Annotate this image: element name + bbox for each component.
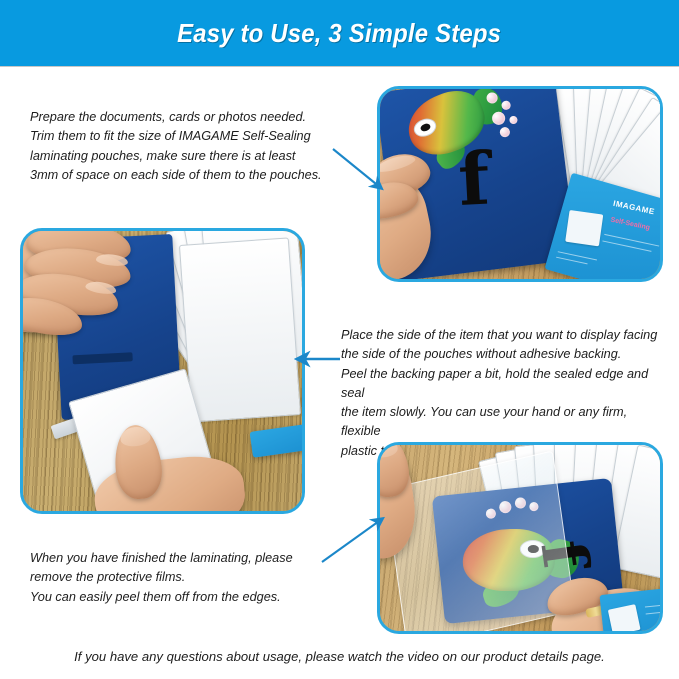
infographic-page: Easy to Use, 3 Simple Steps Prepare the … — [0, 0, 679, 679]
arrow-step-3 — [322, 519, 382, 562]
arrow-layer — [0, 0, 679, 679]
arrow-step-1 — [333, 149, 381, 188]
